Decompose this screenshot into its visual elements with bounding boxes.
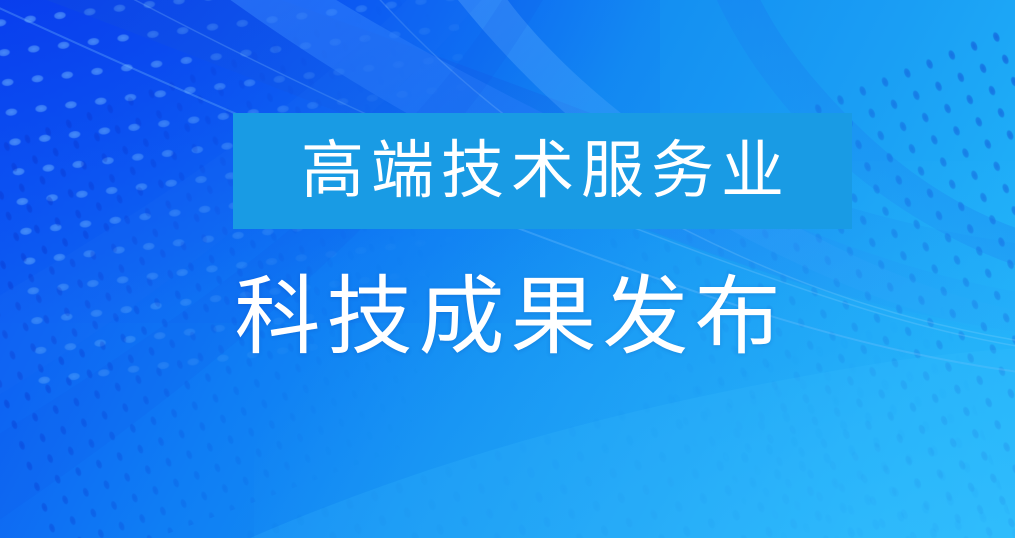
poster-canvas: 高端技术服务业 科技成果发布 [0, 0, 1015, 538]
banner-title-bar: 高端技术服务业 [233, 113, 852, 229]
poster-subtitle: 科技成果发布 [0, 272, 1015, 362]
banner-title-text: 高端技术服务业 [294, 140, 791, 203]
